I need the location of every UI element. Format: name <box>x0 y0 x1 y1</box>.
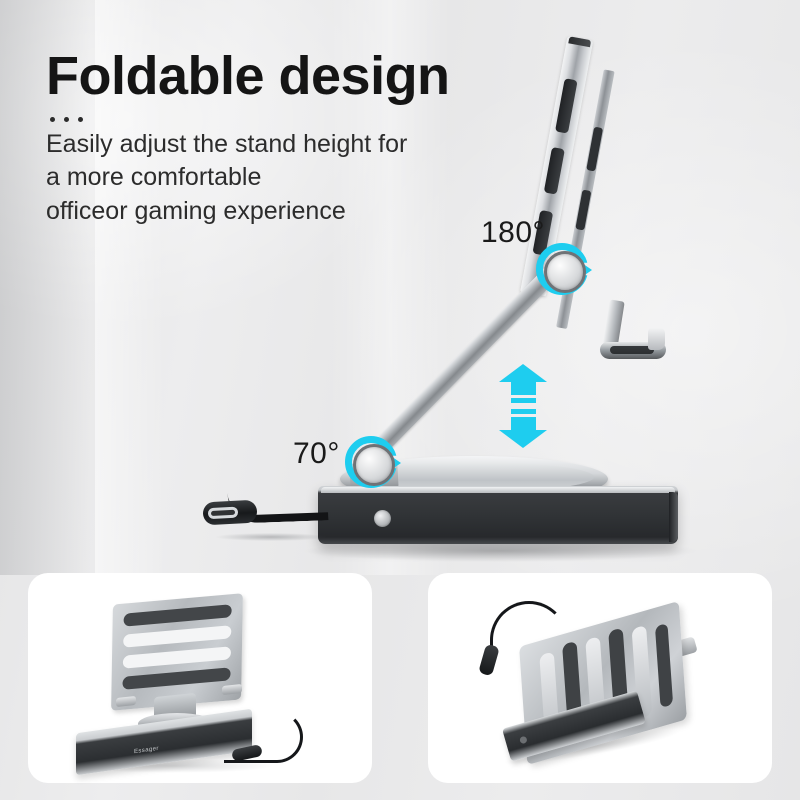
arrow-down-head <box>499 430 547 448</box>
angle-label-top: 180° <box>481 216 545 250</box>
brand-logo-text: Essager <box>134 746 159 755</box>
folded-stand-scene <box>428 573 772 783</box>
rotation-hinge-icon-top <box>536 243 588 295</box>
usb-c-connector-mouth <box>208 507 239 520</box>
plate-bar <box>123 625 231 647</box>
product-photo-card-assembled[interactable]: Essager <box>28 573 372 783</box>
plate-slot <box>555 78 578 133</box>
arrow-down-stem <box>511 417 536 430</box>
angle-label-bottom: 70° <box>293 437 340 471</box>
device-cradle-hook <box>596 300 668 366</box>
arrow-up-icon <box>499 364 547 403</box>
hero-product-illustration: 180° 70° <box>0 0 800 575</box>
base-right-edge <box>669 492 678 542</box>
plate-slot <box>655 623 673 708</box>
power-button-icon <box>519 736 528 745</box>
product-marketing-image: Foldable design Easily adjust the stand … <box>0 0 800 800</box>
product-photo-card-folded[interactable] <box>428 573 772 783</box>
assembled-stand-scene: Essager <box>28 573 372 783</box>
plate-slot <box>544 147 565 195</box>
arrow-up-stem <box>511 382 536 395</box>
plate-slot <box>575 190 591 231</box>
plate-bar <box>122 667 230 689</box>
arrow-up-head <box>499 364 547 382</box>
hook-tip <box>648 328 665 350</box>
height-adjust-arrows <box>499 364 547 448</box>
usb-c-connector-icon <box>478 644 500 677</box>
hinge-puck <box>353 444 395 486</box>
plate-bar <box>123 646 231 668</box>
usb-c-connector-icon <box>202 500 257 526</box>
plate-slot <box>586 127 603 172</box>
power-button-icon[interactable] <box>374 510 391 527</box>
cable-shadow <box>216 533 326 541</box>
plate-bar <box>124 604 232 626</box>
dock-base <box>318 486 678 544</box>
arrow-down-tick <box>511 409 536 414</box>
rotation-hinge-icon-bottom <box>345 436 397 488</box>
plate-top-cap <box>568 36 591 47</box>
hinge-puck <box>544 251 586 293</box>
arrow-down-icon <box>499 409 547 448</box>
arrow-up-tick <box>511 398 536 403</box>
